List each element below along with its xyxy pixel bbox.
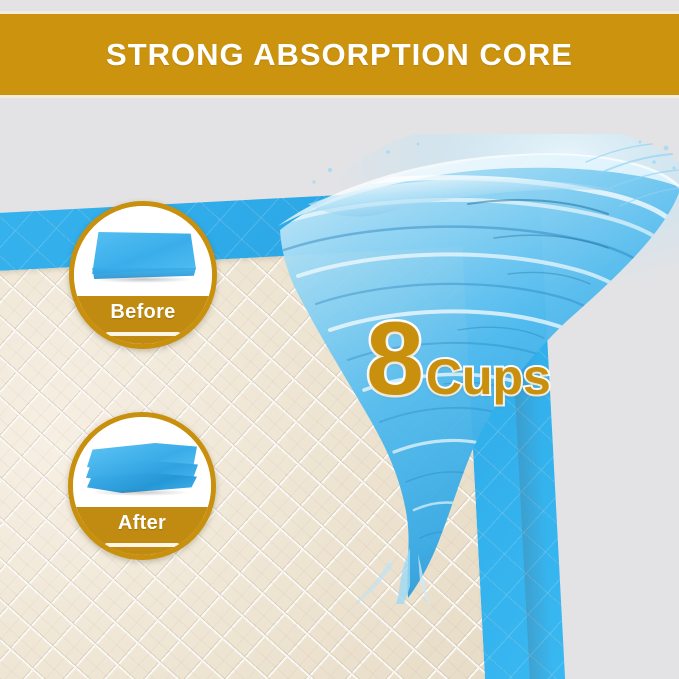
top-margin-strip <box>0 0 679 11</box>
badge-before-photo <box>74 206 212 306</box>
badge-before-label: Before <box>110 301 175 324</box>
folded-pad-shadow <box>91 489 191 496</box>
page-title: STRONG ABSORPTION CORE <box>106 37 573 73</box>
badge-before-underline <box>106 332 180 336</box>
badge-after-photo <box>73 417 211 517</box>
folded-pad-icon <box>83 439 201 495</box>
flat-pad-icon <box>87 230 199 282</box>
badge-before-band: Before <box>74 296 212 344</box>
product-feature-image: STRONG ABSORPTION CORE <box>0 0 679 679</box>
flat-pad-shadow <box>93 276 193 283</box>
badge-after-band: After <box>73 507 211 555</box>
product-scene: 8 Cups Before <box>0 98 679 679</box>
badge-after: After <box>68 412 216 560</box>
flat-pad-surface <box>90 232 196 274</box>
badge-after-underline <box>105 543 179 547</box>
header-banner: STRONG ABSORPTION CORE <box>0 14 679 95</box>
badge-before: Before <box>69 201 217 349</box>
badge-after-label: After <box>118 512 166 535</box>
